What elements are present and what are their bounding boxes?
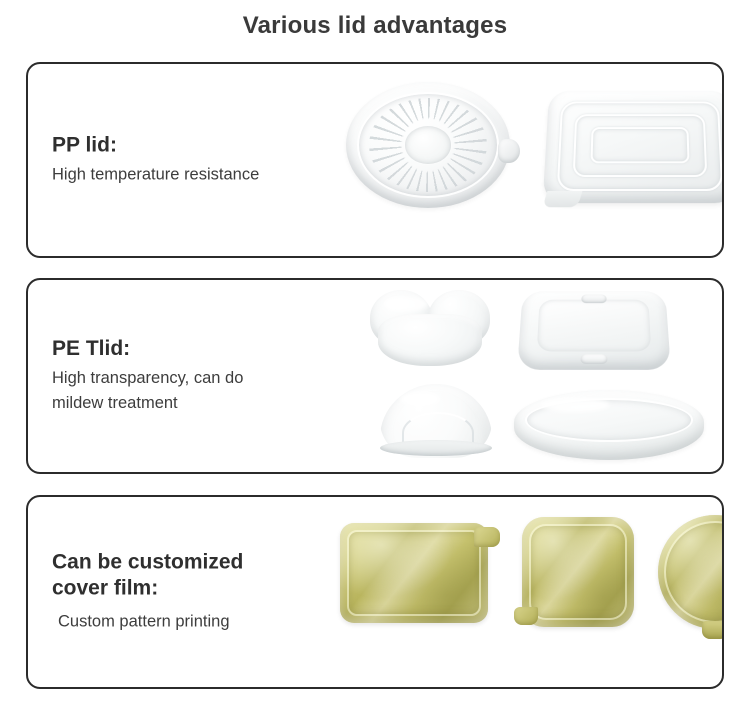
lid-highlight <box>384 296 428 312</box>
page-title: Various lid advantages <box>0 0 750 52</box>
round-gold-foil-film-image <box>658 515 724 629</box>
oval-pe-lid-image <box>514 390 704 460</box>
square-gold-foil-film-image <box>522 517 634 627</box>
dome-lip <box>380 440 492 456</box>
card-film-product-images <box>328 497 722 687</box>
lid-ridge-inner <box>591 127 690 163</box>
lid-notch-bottom <box>581 354 608 364</box>
card-film-heading: Can be customized cover film: <box>52 550 342 602</box>
lid-advantage-cards: PP lid: High temperature resistance P <box>26 62 724 689</box>
card-pp-text-block: PP lid: High temperature resistance <box>52 133 342 188</box>
card-pp-subtitle: High temperature resistance <box>52 163 342 188</box>
card-pe-product-images <box>328 280 722 472</box>
card-pp-product-images <box>328 64 722 256</box>
foil-pull-tab <box>474 527 500 547</box>
lid-corner-notch <box>542 191 582 207</box>
round-ribbed-pp-lid-image <box>346 82 510 208</box>
square-pe-lid-image <box>517 291 671 370</box>
card-pe-text-block: PE Tlid: High transparency, can do milde… <box>52 336 342 416</box>
foil-embossed-edge <box>529 524 627 620</box>
heart-base <box>378 314 482 366</box>
card-pe-lid[interactable]: PE Tlid: High transparency, can do milde… <box>26 278 724 474</box>
dome-pe-lid-image <box>380 384 492 456</box>
rectangular-pp-lid-image <box>543 91 724 203</box>
foil-embossed-edge <box>347 530 481 616</box>
lid-center-hub <box>405 126 451 164</box>
lid-highlight <box>540 398 610 412</box>
card-cover-film[interactable]: Can be customized cover film: Custom pat… <box>26 495 724 689</box>
card-pe-heading: PE Tlid: <box>52 336 342 362</box>
foil-pull-tab <box>514 607 538 625</box>
lid-pull-tab <box>498 139 520 163</box>
lid-highlight <box>400 392 440 406</box>
rectangular-gold-foil-film-image <box>340 523 488 623</box>
heart-shaped-pe-lid-image <box>370 288 490 368</box>
card-pe-subtitle: High transparency, can do mildew treatme… <box>52 366 342 416</box>
lid-flat-top <box>537 300 652 352</box>
card-pp-lid[interactable]: PP lid: High temperature resistance <box>26 62 724 258</box>
lid-notch-top <box>581 295 606 304</box>
card-film-subtitle: Custom pattern printing <box>52 606 342 635</box>
card-pp-heading: PP lid: <box>52 133 342 159</box>
card-film-text-block: Can be customized cover film: Custom pat… <box>52 550 342 635</box>
foil-pull-tab <box>702 621 724 639</box>
